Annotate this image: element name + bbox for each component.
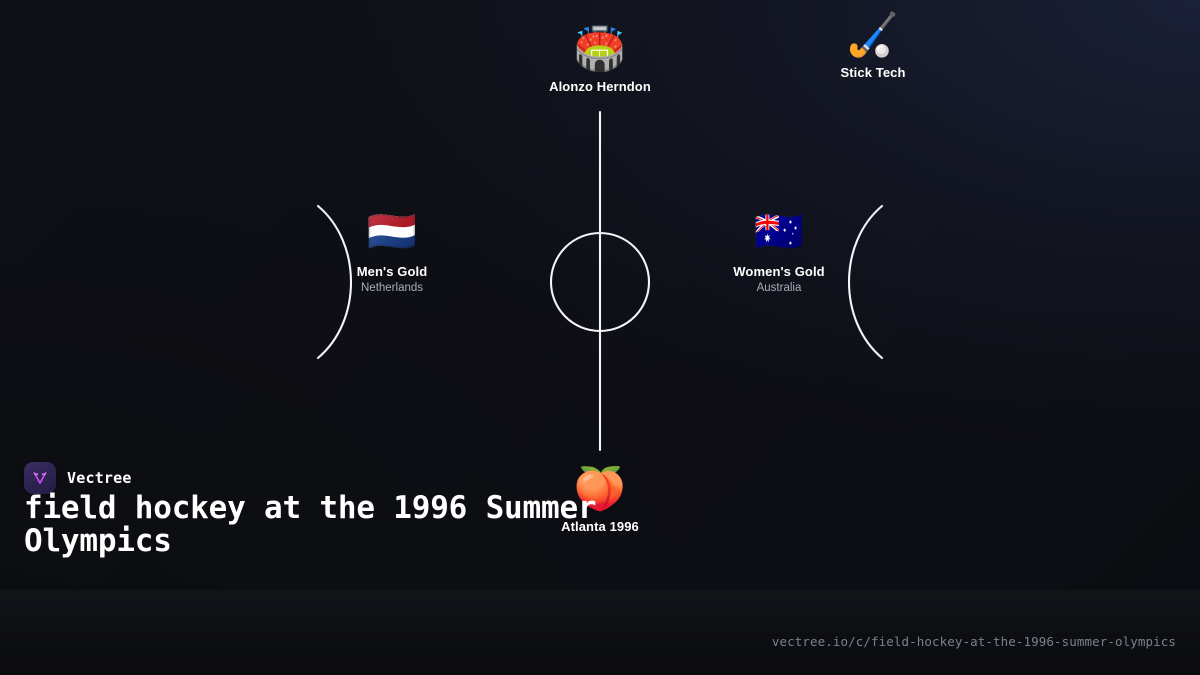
vectree-glyph [30,468,50,488]
node-womens-gold[interactable]: 🇦🇺 Women's Gold Australia [733,212,824,294]
node-title: Women's Gold [733,264,824,279]
shooting-circle-left-arc [318,206,351,358]
footer-bar: Vectree field hockey at the 1996 Summer … [0,590,1200,675]
stadium-icon: 🏟️ [574,28,626,70]
shooting-circle-right-arc [849,206,882,358]
page-title: field hockey at the 1996 Summer Olympics [24,492,724,558]
node-subtitle: Netherlands [361,282,423,294]
field-hockey-icon: 🏑 [847,14,899,56]
pitch-diagram [0,0,1200,675]
node-title: Alonzo Herndon [549,79,651,94]
node-mens-gold[interactable]: 🇳🇱 Men's Gold Netherlands [357,212,428,294]
flag-australia-icon: 🇦🇺 [754,212,804,252]
node-alonzo-herndon[interactable]: 🏟️ Alonzo Herndon [549,28,651,94]
page-url: vectree.io/c/field-hockey-at-the-1996-su… [772,634,1176,649]
brand-name: Vectree [67,469,132,487]
node-stick-tech[interactable]: 🏑 Stick Tech [840,14,905,80]
flag-netherlands-icon: 🇳🇱 [367,212,417,252]
node-subtitle: Australia [757,282,802,294]
node-title: Men's Gold [357,264,428,279]
node-title: Stick Tech [840,65,905,80]
